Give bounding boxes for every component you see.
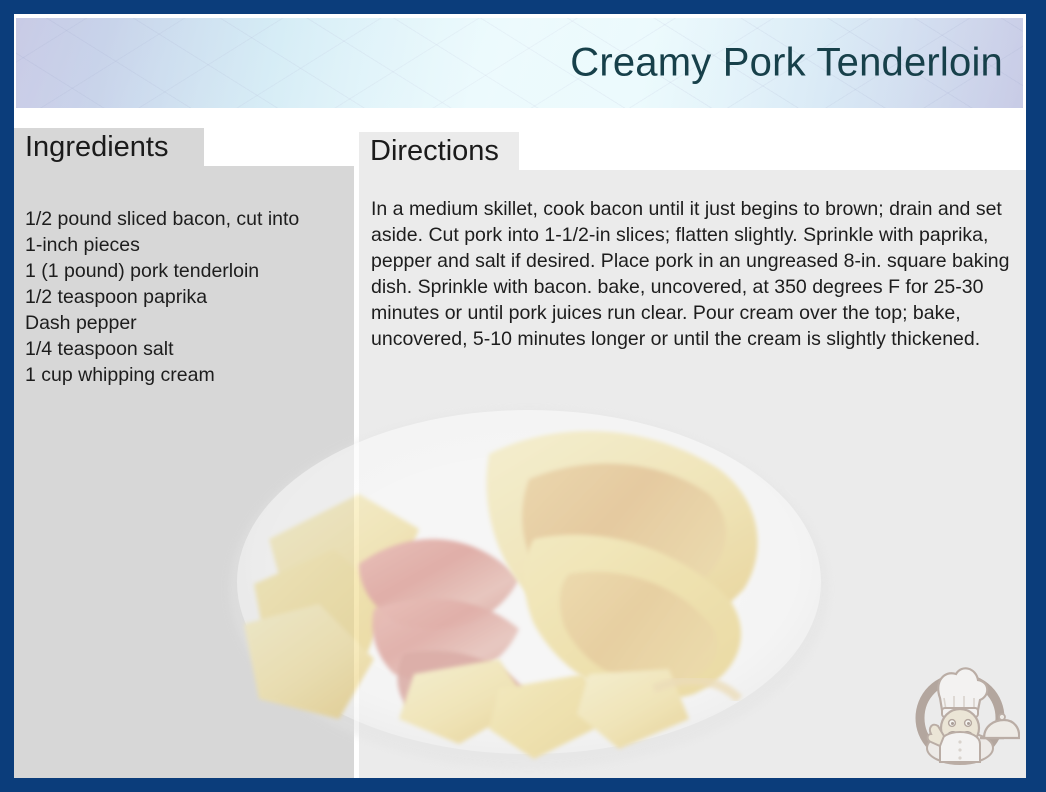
directions-heading-label: Directions [370, 137, 499, 166]
recipe-card-surface: Creamy Pork Tenderloin 1/2 pound sliced … [14, 14, 1026, 778]
header-banner: Creamy Pork Tenderloin [16, 18, 1023, 108]
recipe-card-frame: Creamy Pork Tenderloin 1/2 pound sliced … [0, 0, 1046, 792]
list-item: 1 (1 pound) pork tenderloin [25, 258, 346, 284]
ingredients-panel: 1/2 pound sliced bacon, cut into 1-inch … [14, 166, 354, 778]
list-item: 1-inch pieces [25, 232, 346, 258]
chef-logo-icon [900, 652, 1020, 772]
list-item: 1/4 teaspoon salt [25, 336, 346, 362]
directions-heading-tab: Directions [359, 132, 519, 170]
list-item: 1/2 teaspoon paprika [25, 284, 346, 310]
ingredients-heading-label: Ingredients [25, 133, 169, 162]
list-item: 1 cup whipping cream [25, 362, 346, 388]
list-item: 1/2 pound sliced bacon, cut into [25, 206, 346, 232]
list-item: Dash pepper [25, 310, 346, 336]
ingredients-list: 1/2 pound sliced bacon, cut into 1-inch … [25, 206, 346, 388]
page-title: Creamy Pork Tenderloin [570, 41, 1003, 86]
directions-body-text: In a medium skillet, cook bacon until it… [371, 196, 1017, 352]
ingredients-heading-tab: Ingredients [14, 128, 204, 166]
